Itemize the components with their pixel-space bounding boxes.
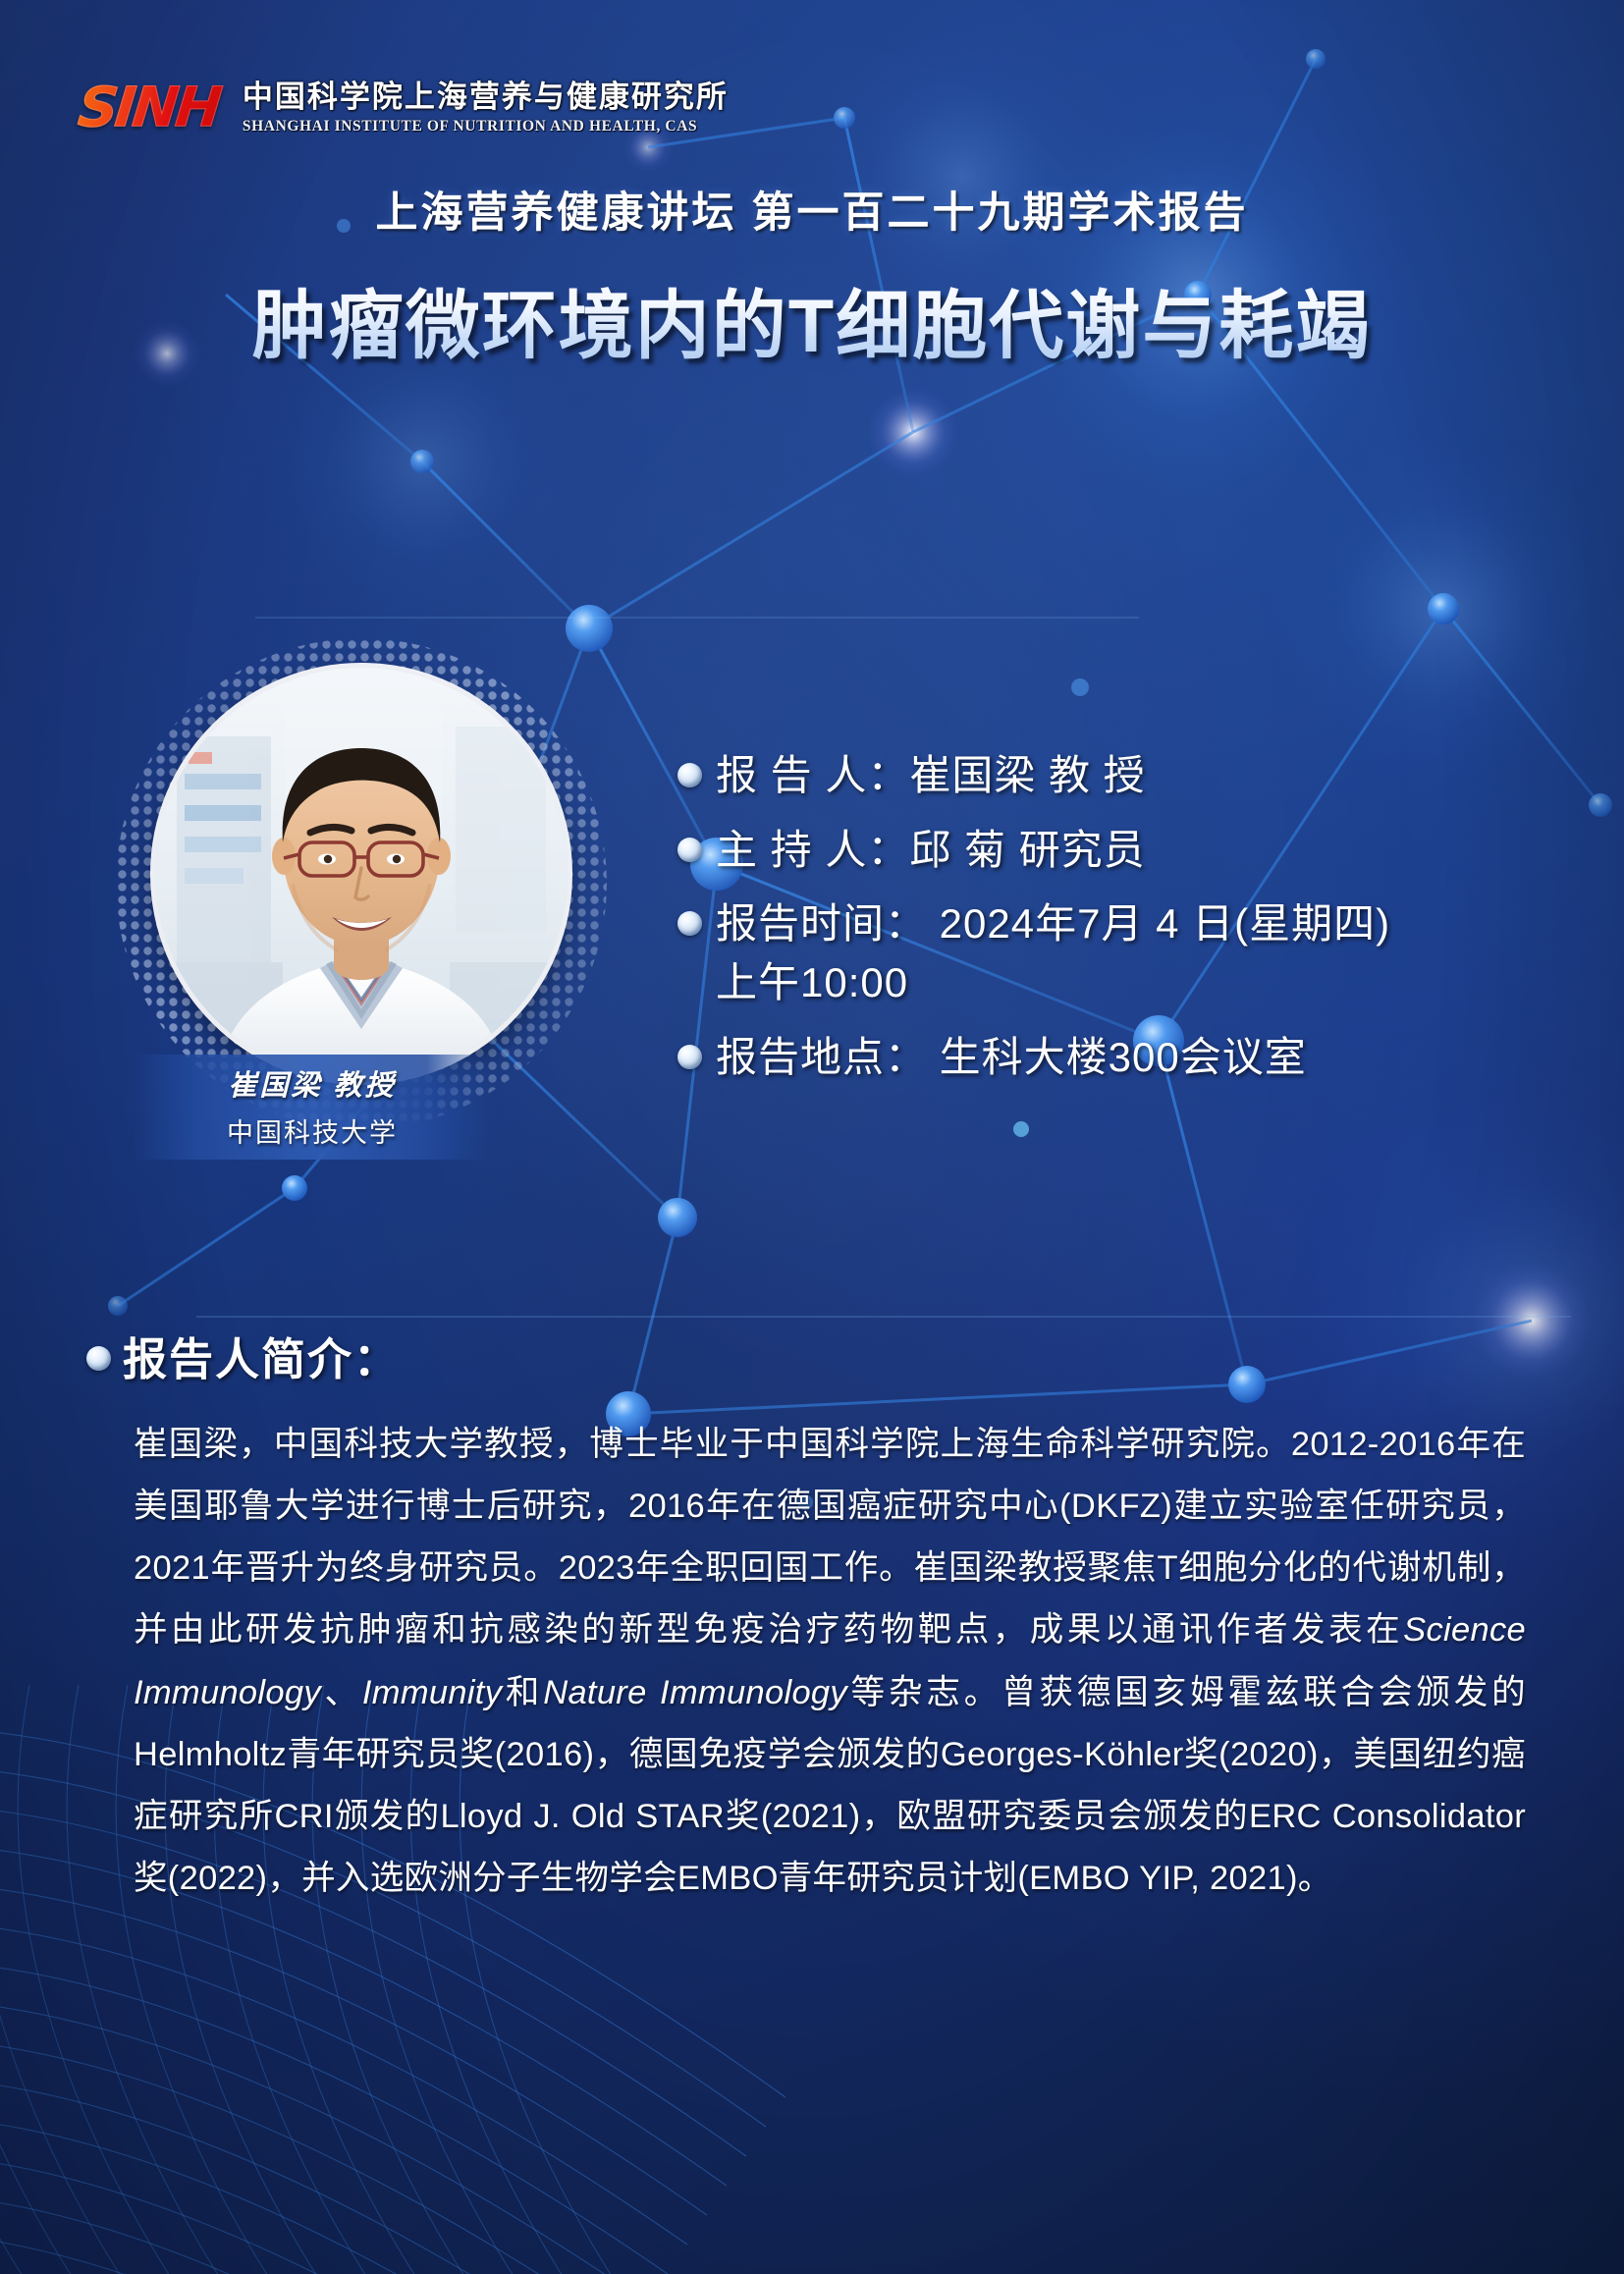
detail-venue-text: 报告地点： 生科大楼300会议室: [716, 1028, 1307, 1087]
journal-name: Nature Immunology: [543, 1674, 847, 1711]
detail-row-speaker: 报 告 人：崔国梁 教 授: [677, 746, 1561, 805]
detail-row-host: 主 持 人：邱 菊 研究员: [677, 821, 1561, 880]
speaker-nameplate: 崔国梁 教授 中国科技大学: [134, 1055, 491, 1160]
journal-name: Immunity: [362, 1674, 502, 1711]
detail-host-text: 主 持 人：邱 菊 研究员: [716, 821, 1146, 880]
detail-row-time: 报告时间： 2024年7月 4 日(星期四) 上午10:00: [677, 894, 1561, 1011]
event-details-list: 报 告 人：崔国梁 教 授 主 持 人：邱 菊 研究员 报告时间： 2024年7…: [677, 746, 1561, 1102]
institute-name-cn: 中国科学院上海营养与健康研究所: [243, 81, 729, 115]
series-title: 上海营养健康讲坛 第一百二十九期学术报告: [0, 179, 1624, 240]
bullet-sphere-icon: [677, 763, 702, 787]
institute-name-block: 中国科学院上海营养与健康研究所 SHANGHAI INSTITUTE OF NU…: [243, 81, 729, 135]
speaker-name: 崔国梁 教授: [134, 1062, 491, 1104]
speaker-card: 崔国梁 教授 中国科技大学: [116, 638, 607, 1129]
bio-heading-text: 报告人简介：: [123, 1324, 400, 1387]
bio-text-run: 崔国梁，中国科技大学教授，博士毕业于中国科学院上海生命科学研究院。2012-20…: [134, 1426, 1526, 1649]
speaker-affiliation: 中国科技大学: [134, 1111, 491, 1150]
bullet-sphere-icon: [677, 1045, 702, 1069]
seminar-poster: SINH 中国科学院上海营养与健康研究所 SHANGHAI INSTITUTE …: [0, 0, 1624, 2274]
bullet-sphere-icon: [86, 1346, 111, 1371]
institute-logo: SINH 中国科学院上海营养与健康研究所 SHANGHAI INSTITUTE …: [79, 81, 729, 135]
detail-row-venue: 报告地点： 生科大楼300会议室: [677, 1028, 1561, 1087]
institute-name-en: SHANGHAI INSTITUTE OF NUTRITION AND HEAL…: [243, 118, 729, 135]
bio-paragraph: 崔国梁，中国科技大学教授，博士毕业于中国科学院上海生命科学研究院。2012-20…: [134, 1414, 1526, 1910]
sinh-wordmark-icon: SINH: [76, 81, 228, 135]
speaker-photo: [155, 668, 568, 1080]
page-title: 肿瘤微环境内的T细胞代谢与耗竭: [0, 265, 1624, 373]
bio-heading: 报告人简介：: [86, 1324, 400, 1387]
detail-speaker-text: 报 告 人：崔国梁 教 授: [716, 746, 1146, 805]
bio-text-run: 、: [321, 1674, 362, 1711]
speaker-portrait-image: [155, 668, 568, 1080]
detail-time-text: 报告时间： 2024年7月 4 日(星期四) 上午10:00: [716, 894, 1390, 1011]
bullet-sphere-icon: [677, 911, 702, 936]
bio-text-run: 和: [502, 1674, 543, 1711]
bullet-sphere-icon: [677, 838, 702, 862]
